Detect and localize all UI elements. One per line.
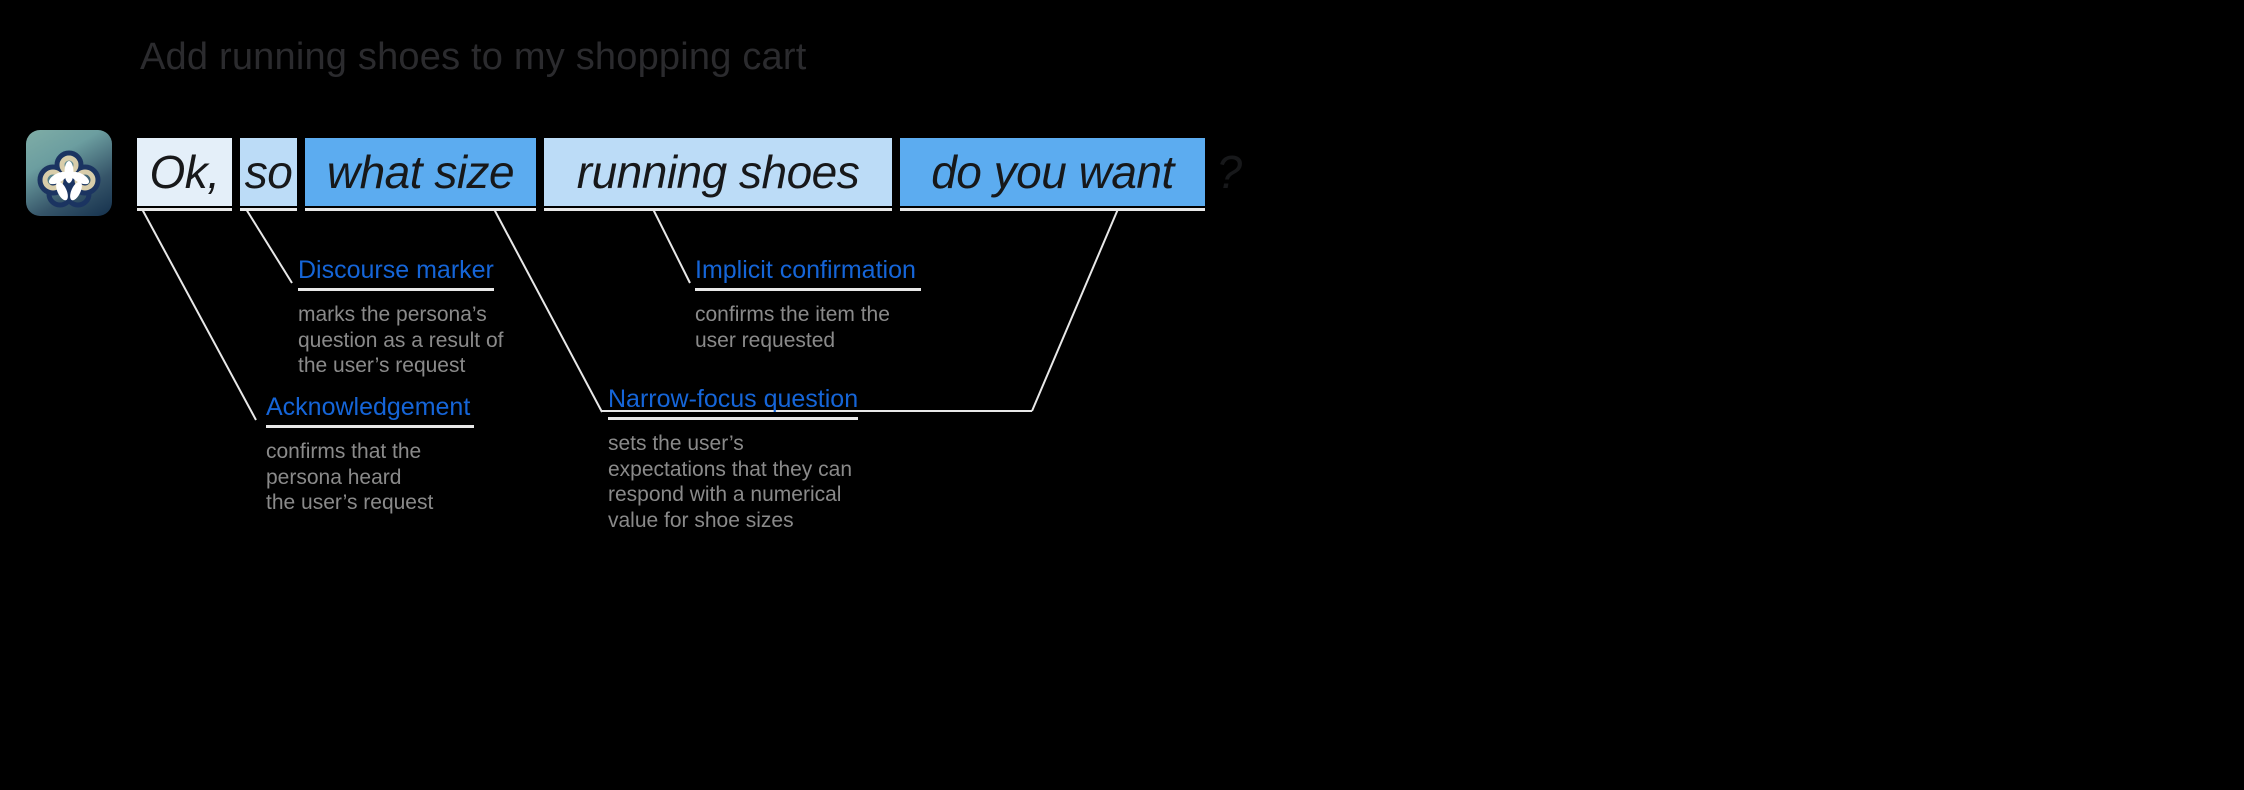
annotation-acknowledgement: Acknowledgementconfirms that thepersona … (266, 393, 474, 516)
diagram-canvas: Add running shoes to my shopping cart (0, 0, 2244, 790)
annotation-body-line: marks the persona’s (298, 302, 503, 328)
leader-implicit-confirmation (653, 209, 690, 283)
leader-acknowledgement (142, 209, 256, 420)
annotation-title[interactable]: Discourse marker (298, 256, 494, 291)
leader-discourse-marker (246, 209, 292, 283)
sentence-segment[interactable]: what size (305, 138, 536, 206)
annotation-body-line: the user’s request (298, 353, 503, 379)
annotation-title[interactable]: Acknowledgement (266, 393, 474, 428)
persona-response-sentence: Ok,sowhat sizerunning shoesdo you want? (137, 138, 1245, 206)
annotation-body-line: question as a result of (298, 328, 503, 354)
sentence-segment[interactable]: so (240, 138, 297, 206)
annotation-body-line: confirms the item the (695, 302, 921, 328)
sentence-segment[interactable]: do you want (900, 138, 1205, 206)
annotation-body: sets the user’sexpectations that they ca… (608, 431, 858, 533)
annotation-body: marks the persona’squestion as a result … (298, 302, 503, 379)
leader-do-you-want (1032, 209, 1118, 411)
persona-avatar (26, 130, 112, 216)
annotation-body-line: respond with a numerical (608, 482, 858, 508)
annotation-body-line: user requested (695, 328, 921, 354)
annotation-body-line: value for shoe sizes (608, 508, 858, 534)
annotation-body-line: expectations that they can (608, 457, 858, 483)
annotation-body: confirms the item theuser requested (695, 302, 921, 353)
annotation-title[interactable]: Narrow-focus question (608, 385, 858, 420)
sentence-segment[interactable]: Ok, (137, 138, 232, 206)
sentence-segment[interactable]: running shoes (544, 138, 892, 206)
lotus-flower-icon (26, 130, 112, 216)
sentence-segment[interactable]: ? (1213, 138, 1245, 206)
annotation-discourse-marker: Discourse markermarks the persona’squest… (298, 256, 503, 379)
annotation-body-line: confirms that the (266, 439, 474, 465)
leader-narrow-focus-question (494, 209, 602, 412)
annotation-body-line: persona heard (266, 465, 474, 491)
annotation-title[interactable]: Implicit confirmation (695, 256, 921, 291)
annotation-narrow-focus-question: Narrow-focus questionsets the user’sexpe… (608, 385, 858, 533)
annotation-body-line: the user’s request (266, 490, 474, 516)
page-title: Add running shoes to my shopping cart (140, 36, 806, 79)
annotation-implicit-confirmation: Implicit confirmationconfirms the item t… (695, 256, 921, 353)
annotation-body: confirms that thepersona heardthe user’s… (266, 439, 474, 516)
annotation-body-line: sets the user’s (608, 431, 858, 457)
